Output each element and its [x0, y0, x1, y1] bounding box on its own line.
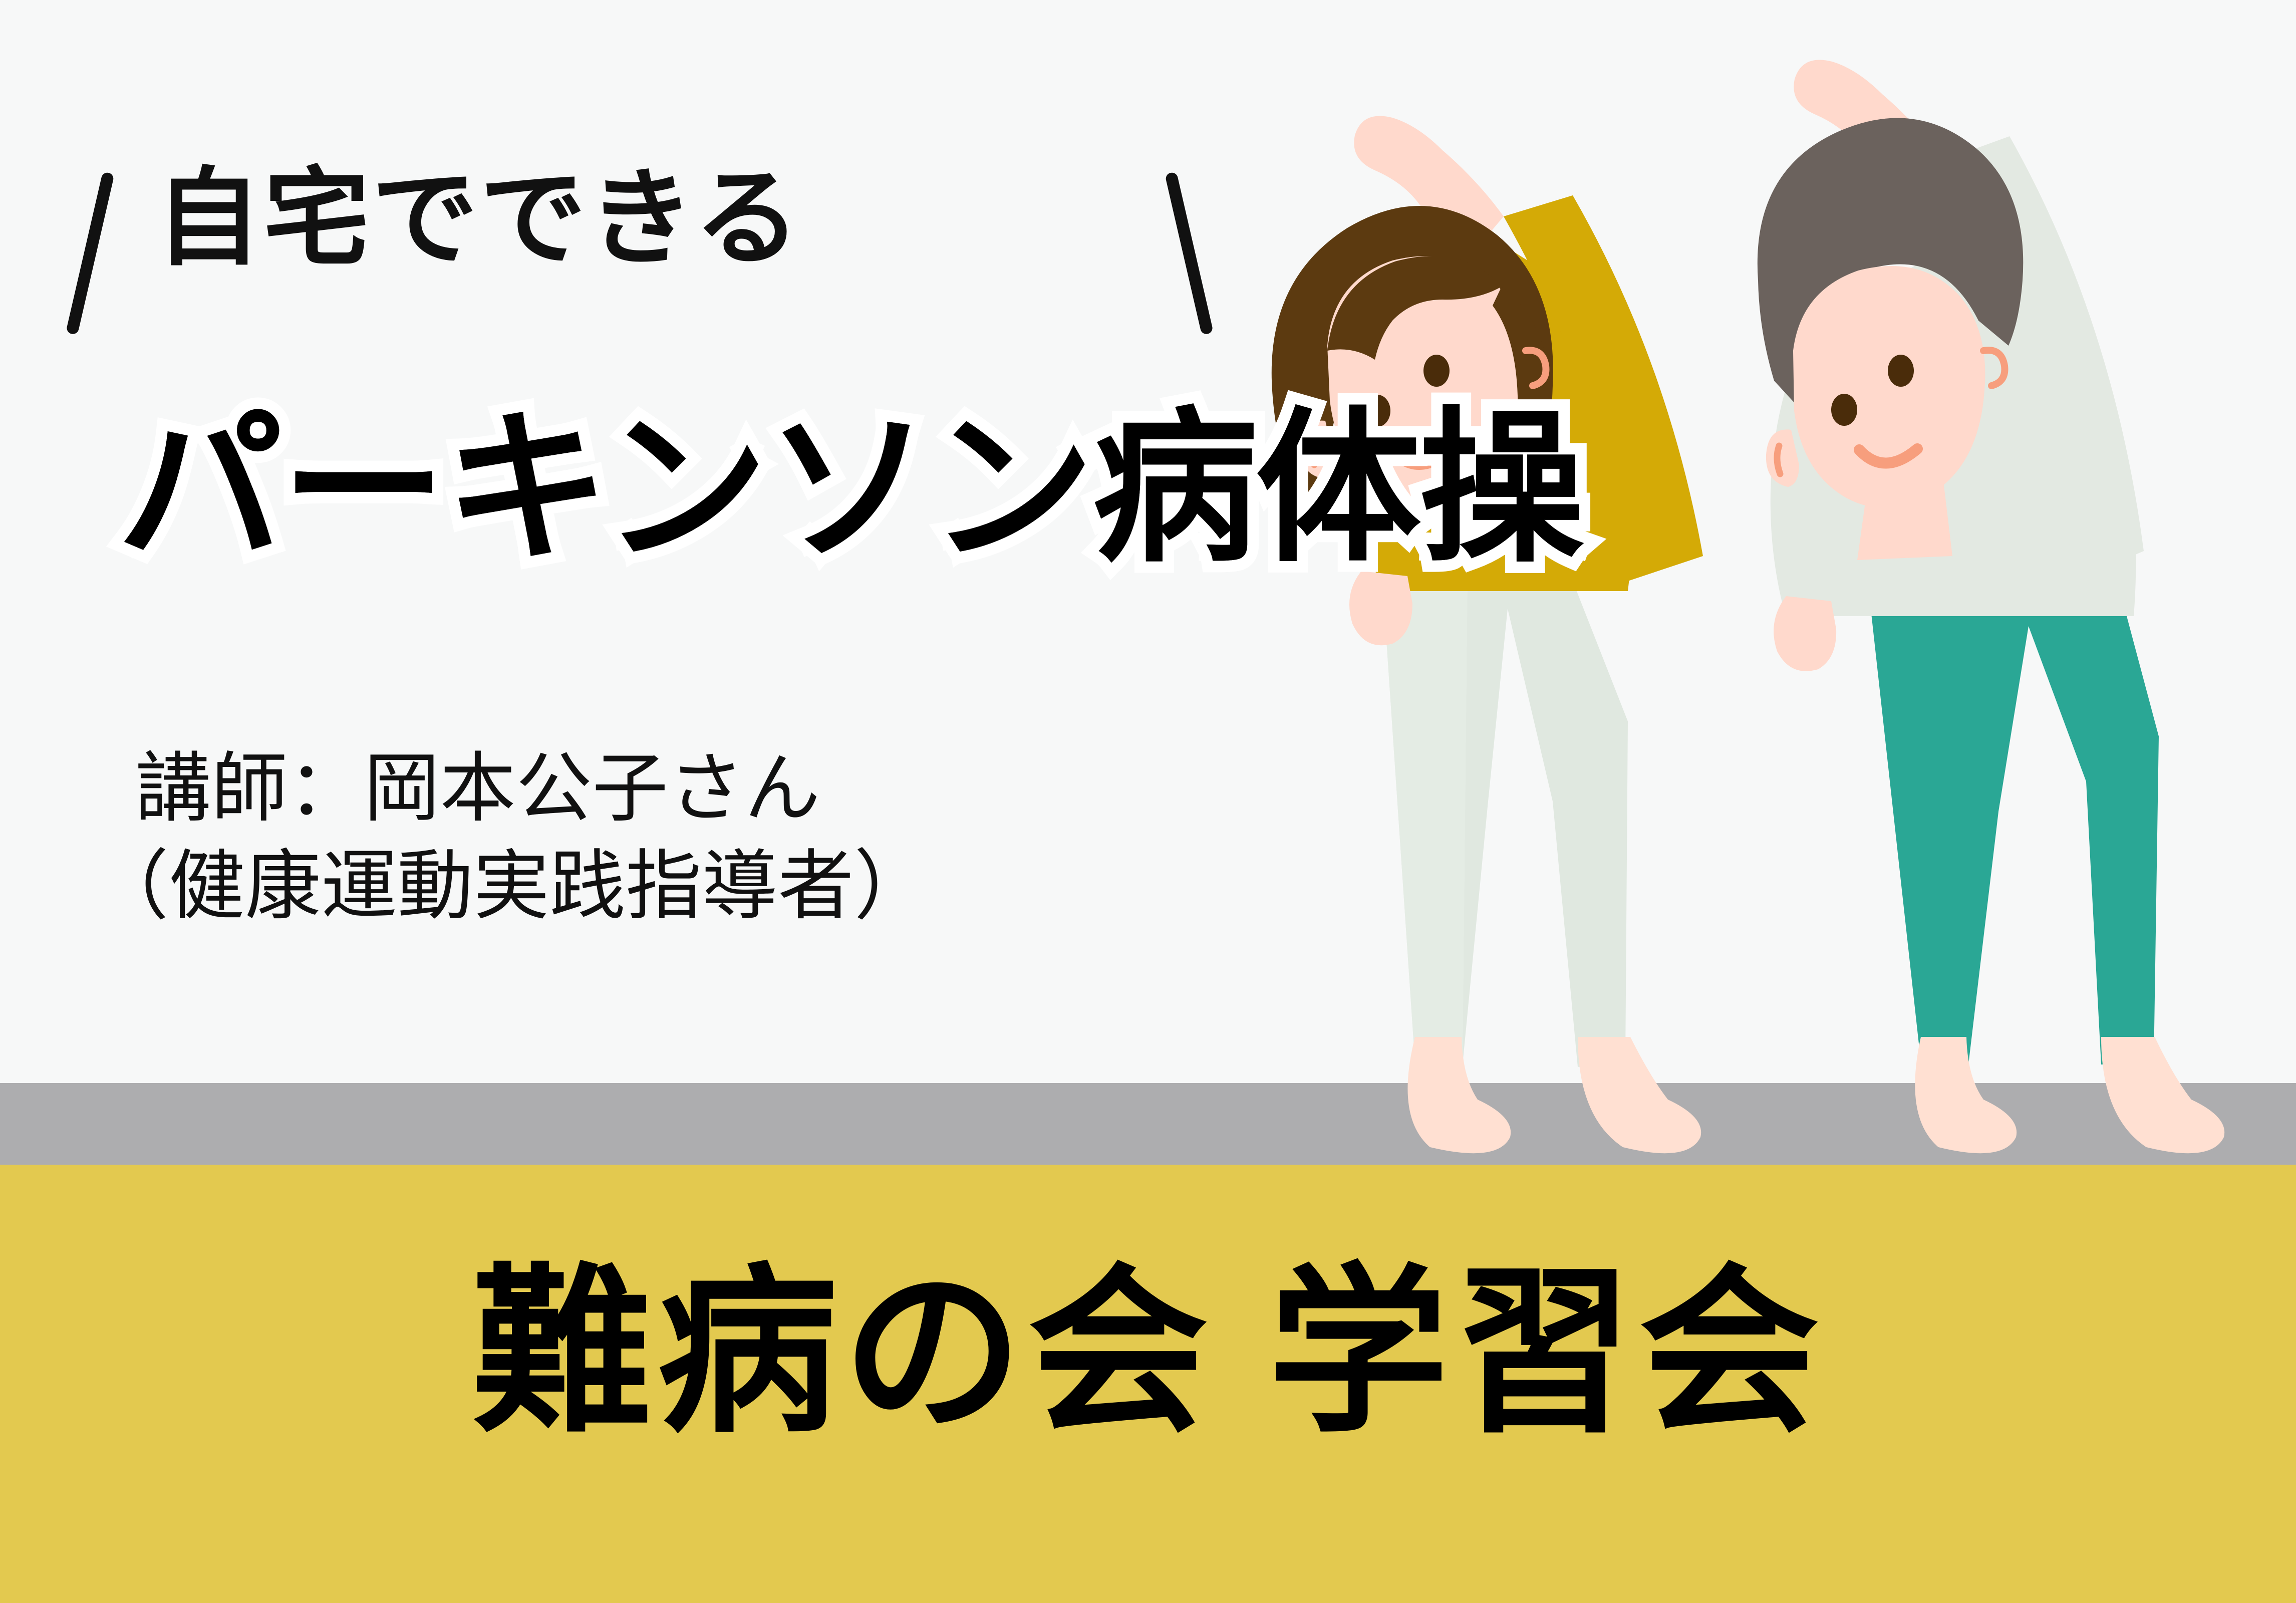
- lecturer-name: 講師：岡本公子さん: [135, 736, 820, 842]
- eyecatch-slash-right-icon: [1165, 171, 1214, 335]
- event-banner-title: 難病の会 学習会: [0, 1262, 2296, 1443]
- eyecatch-text: 自宅でできる: [155, 165, 802, 272]
- eyecatch-slash-left-icon: [66, 171, 115, 335]
- lecturer-qualification: （健康運動実践指導者）: [93, 834, 930, 939]
- main-title: パーキンソン病体操: [118, 406, 1582, 571]
- text-layer: 自宅でできる パーキンソン病体操 パーキンソン病体操 講師：岡本公子さん （健康…: [0, 0, 2296, 1603]
- poster-root: 自宅でできる パーキンソン病体操 パーキンソン病体操 講師：岡本公子さん （健康…: [0, 0, 2296, 1603]
